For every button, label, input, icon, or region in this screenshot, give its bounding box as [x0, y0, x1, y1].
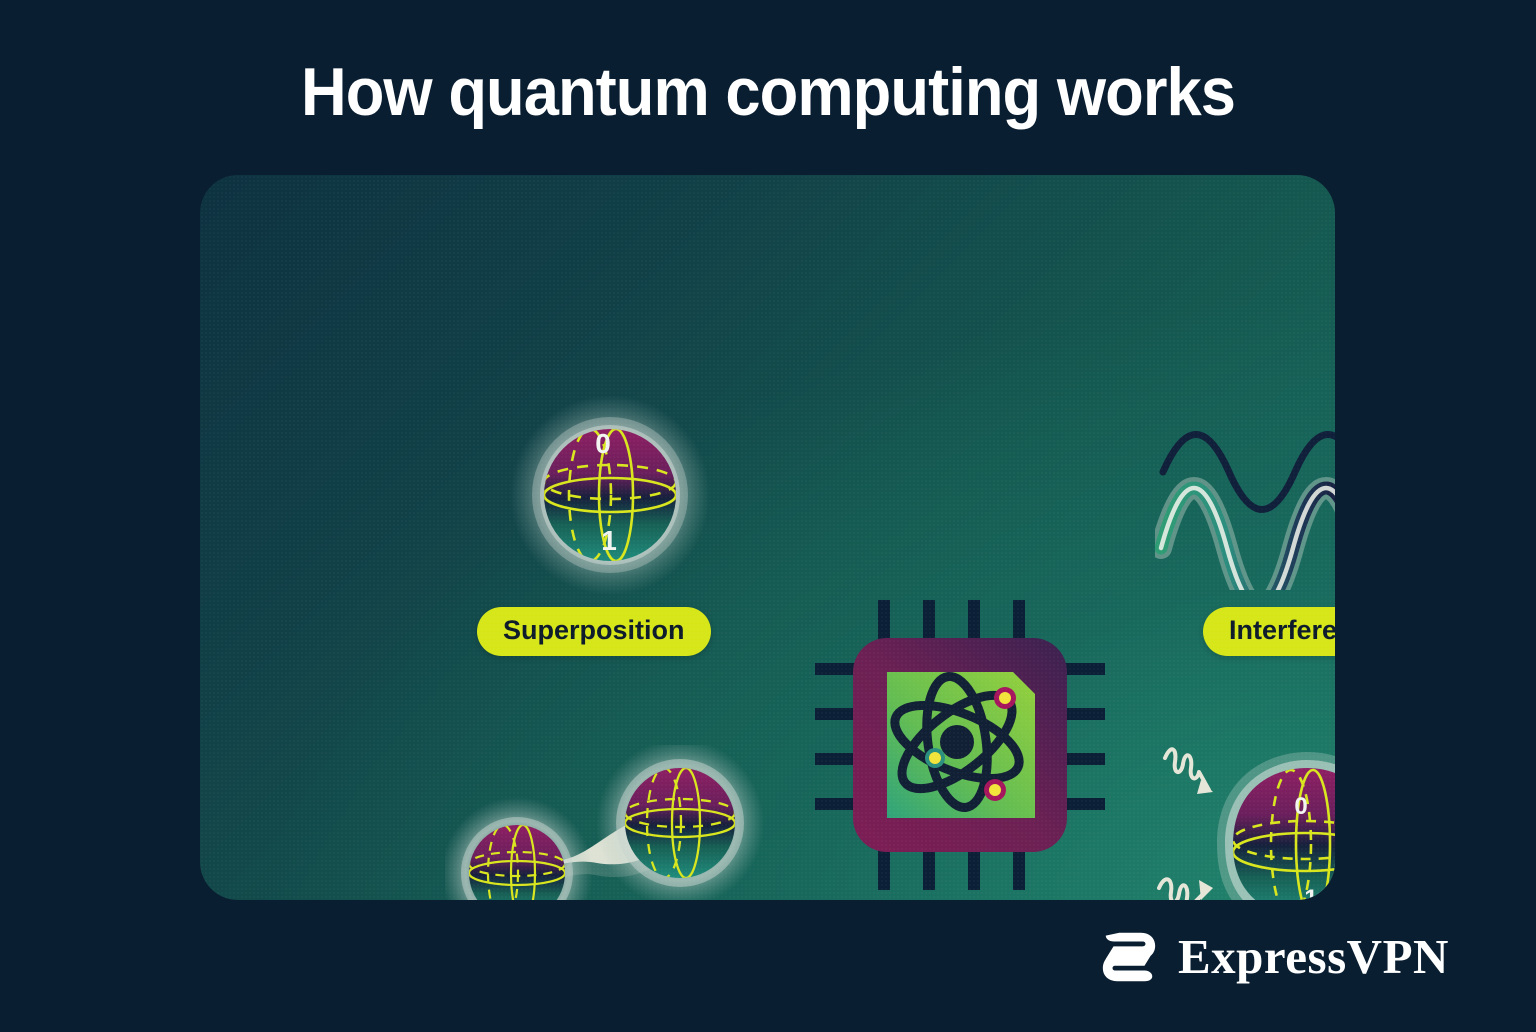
state-label-zero: 0: [595, 428, 611, 459]
page-title: How quantum computing works: [54, 58, 1482, 126]
brand-logo[interactable]: ExpressVPN: [1098, 925, 1449, 987]
entanglement-graphic: [445, 745, 765, 900]
label-superposition[interactable]: Superposition: [477, 607, 711, 656]
interference-graphic: [1155, 430, 1335, 590]
expressvpn-e-logo-icon: [1098, 925, 1160, 987]
content-panel: 0 1: [200, 175, 1335, 900]
state-label-one: 1: [601, 525, 617, 556]
atom-nucleus: [940, 725, 974, 759]
label-interference[interactable]: Interference: [1203, 607, 1335, 656]
state-label-one: 1: [1304, 885, 1317, 900]
superposition-graphic: 0 1: [495, 395, 725, 595]
quantum-chip-graphic: [805, 590, 1115, 900]
infographic-canvas: How quantum computing works: [0, 0, 1536, 1032]
brand-name: ExpressVPN: [1178, 932, 1449, 981]
decoherence-graphic: 0 1: [1155, 740, 1335, 900]
state-label-zero: 0: [1294, 793, 1307, 820]
